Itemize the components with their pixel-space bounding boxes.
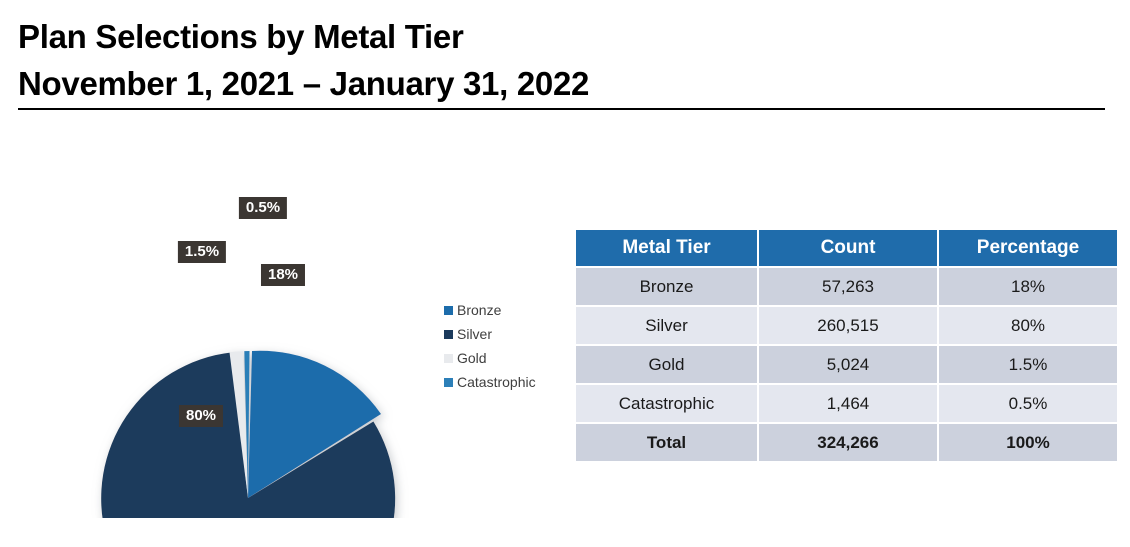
cell-percentage: 0.5%: [938, 384, 1117, 423]
cell-total-count: 324,266: [758, 423, 938, 461]
column-header-percentage: Percentage: [938, 230, 1117, 267]
table-row: Gold 5,024 1.5%: [576, 345, 1117, 384]
page-title-line-1: Plan Selections by Metal Tier: [18, 14, 1108, 61]
legend-label: Gold: [457, 351, 487, 365]
cell-count: 5,024: [758, 345, 938, 384]
table-row: Silver 260,515 80%: [576, 306, 1117, 345]
pie-label-silver: 80%: [179, 405, 223, 427]
pie-label-gold: 1.5%: [178, 241, 226, 263]
column-header-metal-tier: Metal Tier: [576, 230, 758, 267]
table-row: Bronze 57,263 18%: [576, 267, 1117, 306]
pie-label-bronze: 18%: [261, 264, 305, 286]
metal-tier-table: Metal Tier Count Percentage Bronze 57,26…: [576, 230, 1117, 461]
legend-swatch-icon: [444, 378, 453, 387]
pie-label-catastrophic: 0.5%: [239, 197, 287, 219]
column-header-count: Count: [758, 230, 938, 267]
legend-item-bronze: Bronze: [444, 298, 536, 322]
page-title-line-2: November 1, 2021 – January 31, 2022: [18, 61, 1108, 108]
legend-label: Silver: [457, 327, 492, 341]
cell-count: 57,263: [758, 267, 938, 306]
legend-swatch-icon: [444, 330, 453, 339]
legend-swatch-icon: [444, 306, 453, 315]
cell-total-label: Total: [576, 423, 758, 461]
cell-percentage: 1.5%: [938, 345, 1117, 384]
legend-item-catastrophic: Catastrophic: [444, 370, 536, 394]
table-header-row: Metal Tier Count Percentage: [576, 230, 1117, 267]
legend-swatch-icon: [444, 354, 453, 363]
title-divider-rule: [18, 108, 1105, 110]
cell-tier: Catastrophic: [576, 384, 758, 423]
cell-tier: Bronze: [576, 267, 758, 306]
legend-label: Bronze: [457, 303, 501, 317]
table-total-row: Total 324,266 100%: [576, 423, 1117, 461]
cell-tier: Gold: [576, 345, 758, 384]
page-title: Plan Selections by Metal Tier November 1…: [18, 14, 1108, 108]
chart-legend: Bronze Silver Gold Catastrophic: [444, 298, 536, 394]
cell-percentage: 80%: [938, 306, 1117, 345]
cell-count: 260,515: [758, 306, 938, 345]
table-row: Catastrophic 1,464 0.5%: [576, 384, 1117, 423]
legend-item-silver: Silver: [444, 322, 536, 346]
cell-count: 1,464: [758, 384, 938, 423]
cell-total-percentage: 100%: [938, 423, 1117, 461]
legend-item-gold: Gold: [444, 346, 536, 370]
legend-label: Catastrophic: [457, 375, 536, 389]
cell-tier: Silver: [576, 306, 758, 345]
cell-percentage: 18%: [938, 267, 1117, 306]
